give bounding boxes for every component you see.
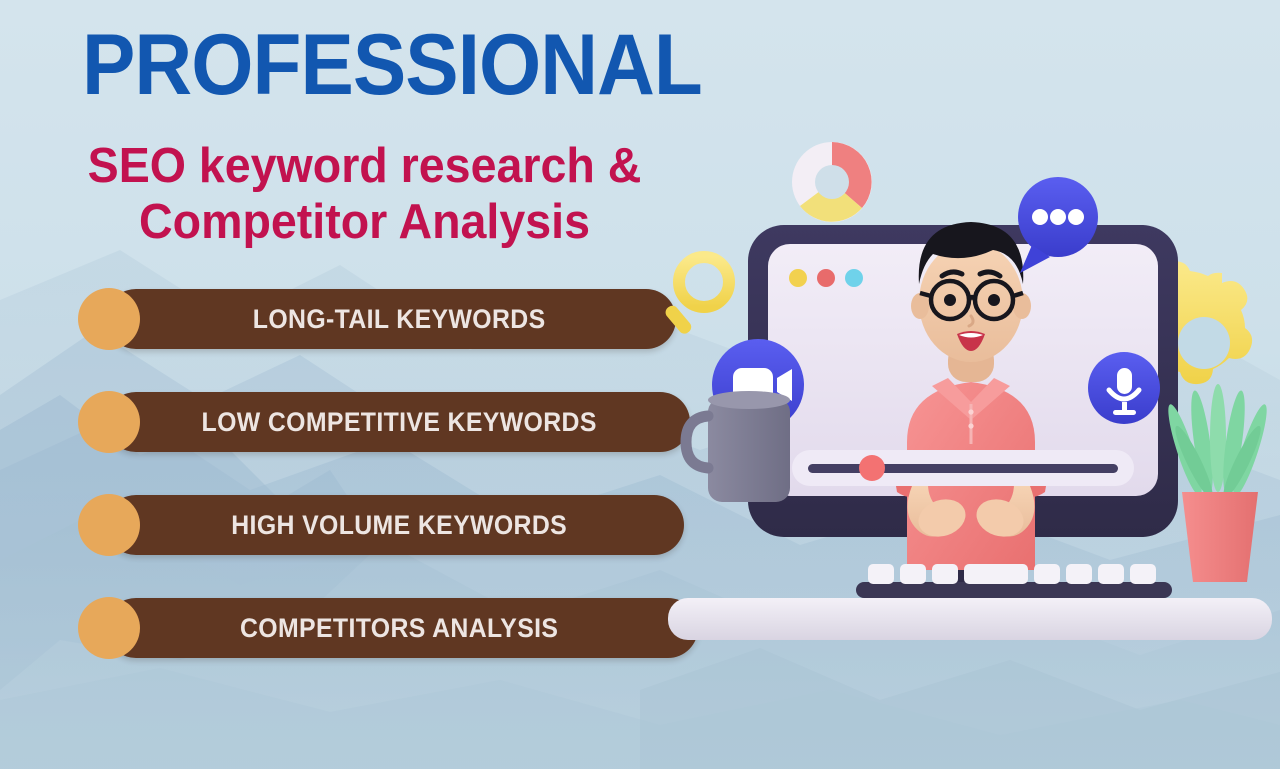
subtitle-line-1: SEO keyword research & [70, 138, 659, 194]
plant-leaves [1163, 384, 1273, 501]
video-progress-bar[interactable] [792, 450, 1134, 486]
subtitle-line-2: Competitor Analysis [70, 194, 659, 250]
hero-illustration [660, 120, 1280, 680]
feature-badge-high-volume-keywords[interactable]: HIGH VOLUME KEYWORDS [78, 495, 678, 555]
badge-label: LONG-TAIL KEYWORDS [102, 304, 654, 335]
donut-chart-icon [792, 142, 872, 222]
page-title: PROFESSIONAL [82, 22, 702, 108]
page-subtitle: SEO keyword research & Competitor Analys… [70, 138, 659, 250]
microphone-icon[interactable] [1088, 352, 1160, 424]
desk-surface [668, 598, 1272, 640]
badge-label: HIGH VOLUME KEYWORDS [102, 510, 654, 541]
keyboard[interactable] [856, 564, 1172, 598]
window-control-dots [789, 269, 863, 287]
feature-badge-competitors-analysis[interactable]: COMPETITORS ANALYSIS [78, 598, 678, 658]
feature-badge-low-competitive-keywords[interactable]: LOW COMPETITIVE KEYWORDS [78, 392, 678, 452]
feature-badge-list: LONG-TAIL KEYWORDS LOW COMPETITIVE KEYWO… [78, 289, 678, 701]
potted-plant [1163, 384, 1273, 582]
feature-badge-long-tail-keywords[interactable]: LONG-TAIL KEYWORDS [78, 289, 678, 349]
magnifier-icon [663, 257, 729, 336]
badge-label: LOW COMPETITIVE KEYWORDS [102, 407, 654, 438]
plant-pot [1182, 492, 1258, 582]
badge-label: COMPETITORS ANALYSIS [102, 613, 654, 644]
poster-canvas: PROFESSIONAL SEO keyword research & Comp… [0, 0, 1280, 769]
